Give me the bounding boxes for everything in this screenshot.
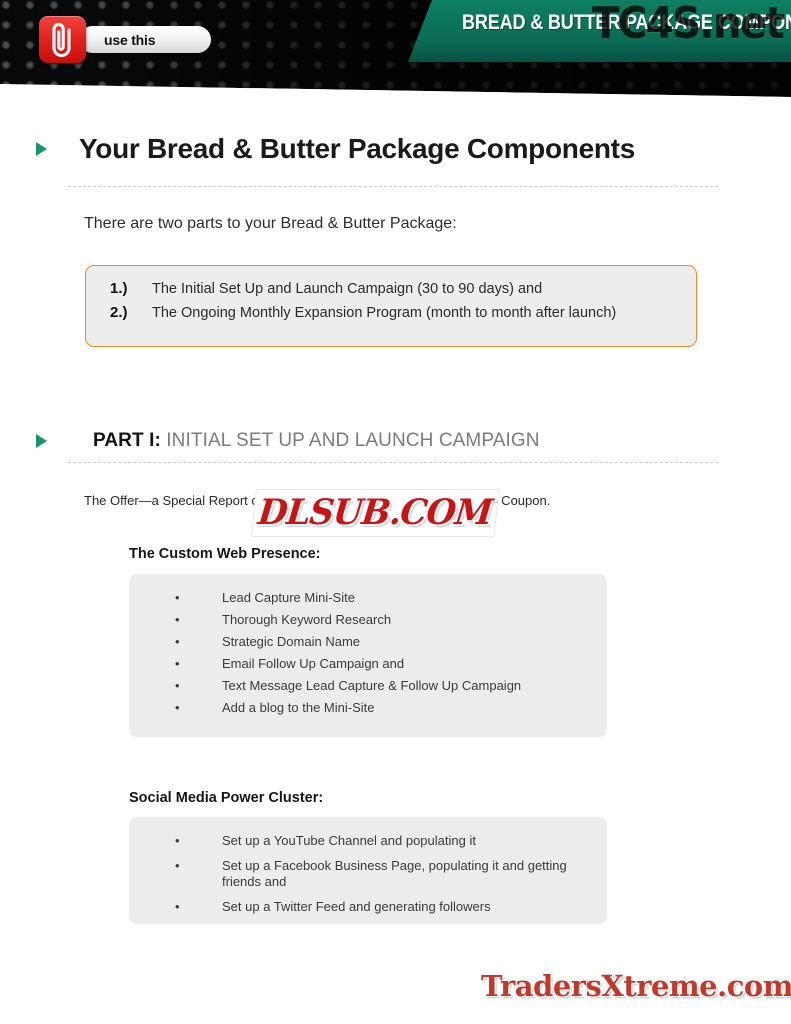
web-presence-list: • Lead Capture Mini-Site • Thorough Keyw… [129, 574, 607, 716]
list-item: • Set up a Twitter Feed and generating f… [129, 899, 607, 915]
list-item: • Strategic Domain Name [129, 634, 607, 650]
intro-text: There are two parts to your Bread & Butt… [84, 215, 457, 233]
list-item: • Lead Capture Mini-Site [129, 590, 607, 606]
list-item: • Set up a Facebook Business Page, popul… [129, 858, 607, 890]
part-one-heading-row: PART I: INITIAL SET UP AND LAUNCH CAMPAI… [36, 430, 540, 452]
list-item-label: Set up a Facebook Business Page, populat… [222, 858, 607, 890]
page-title: Your Bread & Butter Package Components [79, 133, 635, 165]
numbered-item: 1.) The Initial Set Up and Launch Campai… [86, 280, 696, 297]
list-item-label: Email Follow Up Campaign and [222, 656, 420, 672]
use-this-pill[interactable]: use this [79, 26, 211, 53]
two-parts-box: 1.) The Initial Set Up and Launch Campai… [85, 265, 697, 347]
social-media-list: • Set up a YouTube Channel and populatin… [129, 817, 607, 915]
bullet-icon: • [129, 634, 222, 650]
part-one-label-bold: PART I: [93, 430, 161, 451]
web-presence-list-box: • Lead Capture Mini-Site • Thorough Keyw… [129, 574, 607, 737]
footer-logo-tradersxtreme: TradersXtreme.com [481, 969, 791, 1003]
section-heading-web-presence: The Custom Web Presence: [129, 546, 321, 562]
bullet-icon: • [129, 833, 222, 849]
bullet-icon: • [129, 899, 222, 915]
bullet-icon: • [129, 612, 222, 628]
page-header: BREAD & BUTTER PACKAGE COMPONENTS TC4S.n… [0, 0, 791, 100]
list-item-label: Set up a Twitter Feed and generating fol… [222, 899, 507, 915]
list-item: • Thorough Keyword Research [129, 612, 607, 628]
title-divider [68, 186, 718, 187]
triangle-right-icon [36, 142, 47, 156]
bullet-icon: • [129, 678, 222, 694]
numbered-item-number: 2.) [86, 304, 152, 321]
list-item: • Email Follow Up Campaign and [129, 656, 607, 672]
use-this-label: use this [104, 32, 155, 48]
list-item-label: Set up a YouTube Channel and populating … [222, 833, 492, 849]
list-item: • Add a blog to the Mini-Site [129, 700, 607, 716]
offer-paragraph: The Offer—a Special Report combine offer… [84, 492, 724, 509]
bullet-icon: • [129, 700, 222, 716]
social-media-list-box: • Set up a YouTube Channel and populatin… [129, 817, 607, 924]
bullet-icon: • [129, 858, 222, 890]
list-item: • Text Message Lead Capture & Follow Up … [129, 678, 607, 694]
numbered-item-text: The Initial Set Up and Launch Campaign (… [152, 281, 542, 297]
bullet-icon: • [129, 656, 222, 672]
list-item-label: Thorough Keyword Research [222, 612, 407, 628]
list-item-label: Add a blog to the Mini-Site [222, 700, 390, 716]
list-item-label: Strategic Domain Name [222, 634, 376, 650]
numbered-item: 2.) The Ongoing Monthly Expansion Progra… [86, 304, 696, 321]
page-title-row: Your Bread & Butter Package Components [36, 133, 635, 165]
list-item-label: Lead Capture Mini-Site [222, 590, 371, 606]
part-one-heading: PART I: INITIAL SET UP AND LAUNCH CAMPAI… [93, 430, 540, 452]
list-item: • Set up a YouTube Channel and populatin… [129, 833, 607, 849]
paperclip-icon [39, 16, 86, 63]
bullet-icon: • [129, 590, 222, 606]
section-heading-social-media: Social Media Power Cluster: [129, 790, 323, 806]
use-this-badge[interactable]: use this [39, 16, 211, 63]
part-one-label-light: INITIAL SET UP AND LAUNCH CAMPAIGN [161, 430, 540, 451]
part-one-divider [68, 462, 718, 463]
triangle-right-icon [36, 434, 47, 448]
numbered-item-number: 1.) [86, 280, 152, 297]
list-item-label: Text Message Lead Capture & Follow Up Ca… [222, 678, 537, 694]
header-banner-title: BREAD & BUTTER PACKAGE COMPONENTS [462, 11, 754, 35]
numbered-item-text: The Ongoing Monthly Expansion Program (m… [152, 305, 616, 321]
